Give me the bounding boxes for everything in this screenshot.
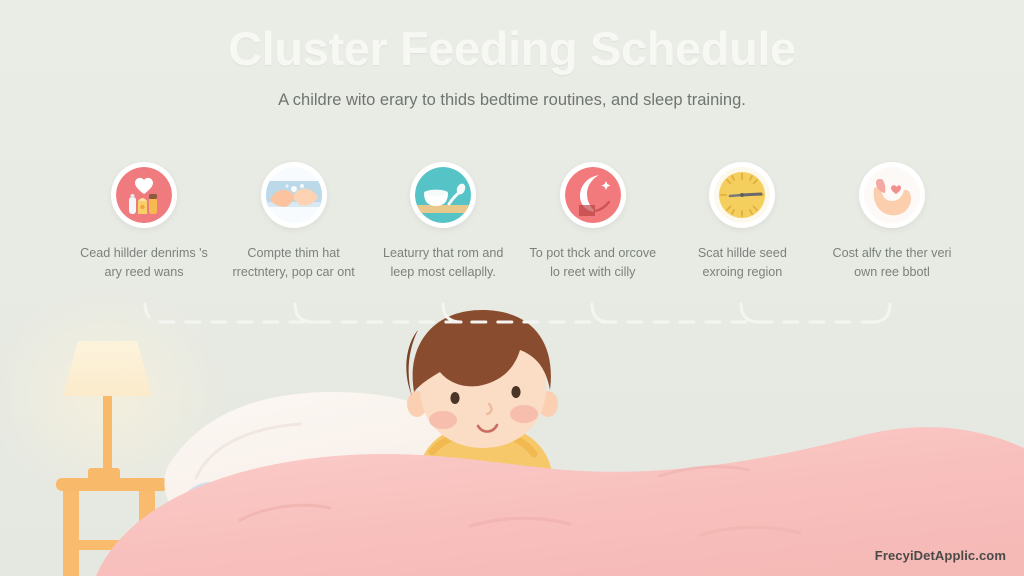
page-subtitle: A childre wito erary to thids bedtime ro… bbox=[152, 90, 872, 111]
step-badge-1[interactable] bbox=[111, 162, 177, 228]
step-label-2: Compte thim hat rrectntery, pop car ont bbox=[228, 244, 360, 282]
step-label-6: Cost alfv the ther veri own ree bbotl bbox=[826, 244, 958, 282]
infographic-canvas: Cluster Feeding Schedule A childre wito … bbox=[0, 0, 1024, 576]
step-badge-3[interactable] bbox=[410, 162, 476, 228]
bowl-spoon-icon bbox=[415, 167, 471, 223]
step-label-5: Scat hillde seed exroing region bbox=[676, 244, 808, 282]
step-label-4: To pot thck and orcove lo reet with cill… bbox=[527, 244, 659, 282]
page-title: Cluster Feeding Schedule bbox=[0, 22, 1024, 76]
watermark: FrecyiDetApplic.com bbox=[875, 548, 1006, 563]
step-badge-4[interactable] bbox=[560, 162, 626, 228]
bottles-heart-icon bbox=[116, 167, 172, 223]
clock-icon bbox=[714, 167, 770, 223]
header: Cluster Feeding Schedule A childre wito … bbox=[0, 0, 1024, 111]
step-item-3[interactable]: Leaturry that rom and leep most cellapll… bbox=[369, 162, 517, 282]
step-label-1: Cead hillder denrims 's ary reed wans bbox=[78, 244, 210, 282]
step-badge-5[interactable] bbox=[709, 162, 775, 228]
steps-row: Cead hillder denrims 's ary reed wans bbox=[70, 162, 966, 327]
step-label-3: Leaturry that rom and leep most cellapll… bbox=[377, 244, 509, 282]
step-item-4[interactable]: To pot thck and orcove lo reet with cill… bbox=[519, 162, 667, 282]
washing-hands-icon bbox=[266, 167, 322, 223]
step-badge-2[interactable] bbox=[261, 162, 327, 228]
step-item-1[interactable]: Cead hillder denrims 's ary reed wans bbox=[70, 162, 218, 282]
step-item-6[interactable]: Cost alfv the ther veri own ree bbotl bbox=[818, 162, 966, 282]
hand-heart-icon bbox=[864, 167, 920, 223]
crescent-moon-star-icon bbox=[565, 167, 621, 223]
step-item-2[interactable]: Compte thim hat rrectntery, pop car ont bbox=[220, 162, 368, 282]
step-badge-6[interactable] bbox=[859, 162, 925, 228]
step-item-5[interactable]: Scat hillde seed exroing region bbox=[668, 162, 816, 282]
